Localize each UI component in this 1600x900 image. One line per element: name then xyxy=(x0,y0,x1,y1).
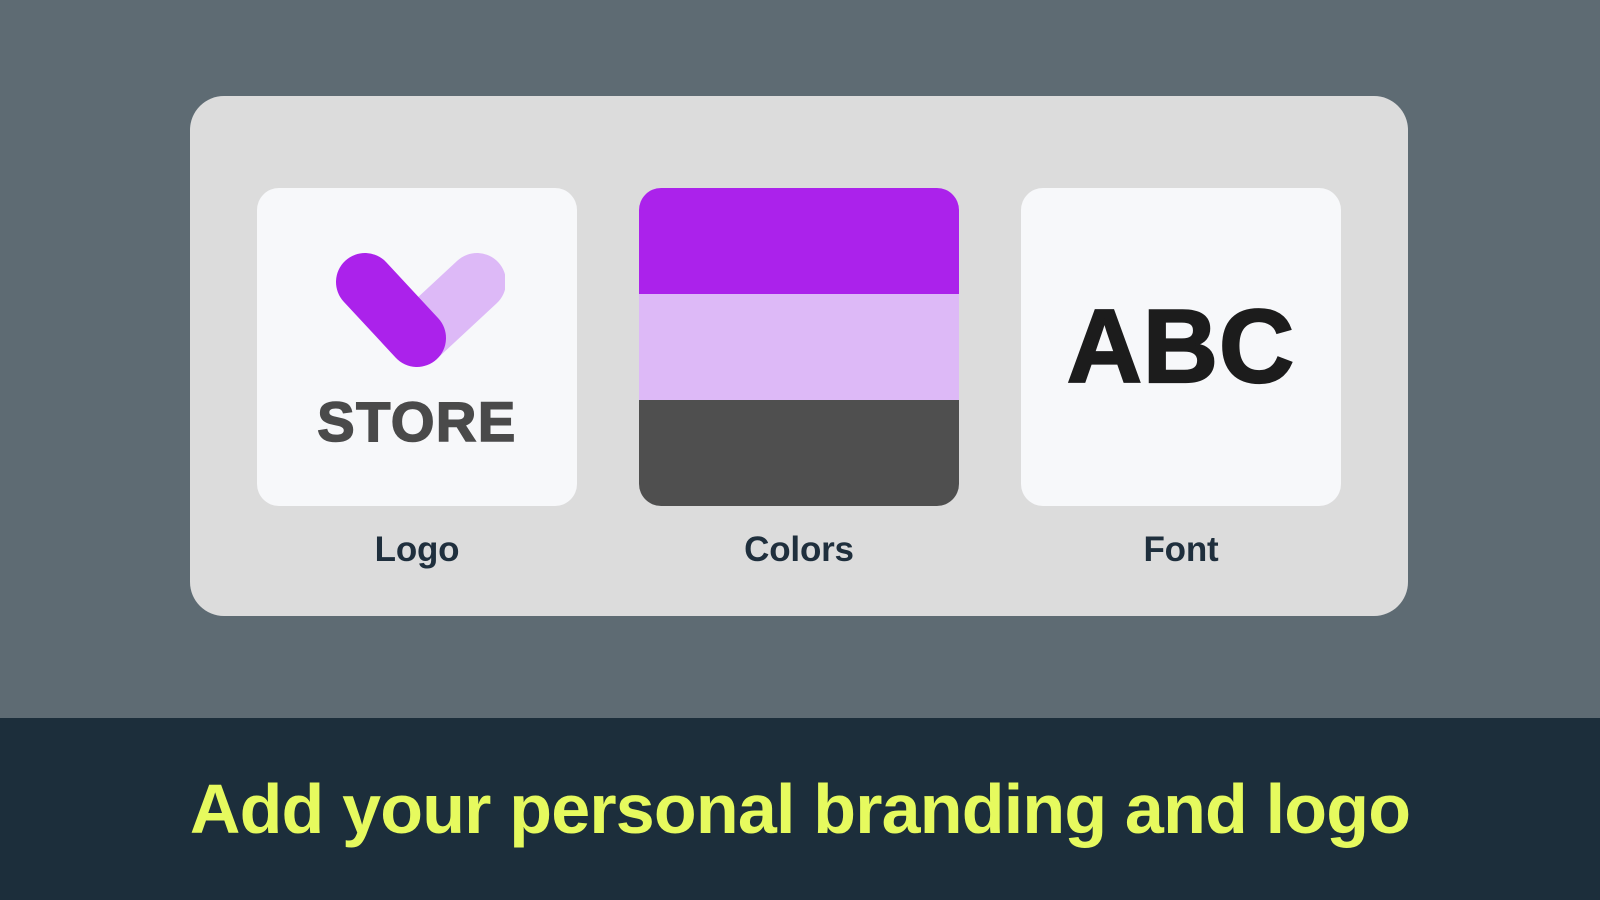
heart-check-logo-icon xyxy=(329,252,505,368)
colors-preview-card[interactable] xyxy=(639,188,959,506)
screenshot-stage: STORE Logo Colors ABC Font xyxy=(0,0,1600,900)
branding-item-colors[interactable]: Colors xyxy=(639,188,959,567)
color-swatch-light-lavender[interactable] xyxy=(639,294,959,400)
font-card-label: Font xyxy=(1144,532,1219,567)
typography-sample-icon: ABC xyxy=(1067,295,1295,399)
branding-items-row: STORE Logo Colors ABC Font xyxy=(190,96,1408,616)
logo-wordmark: STORE xyxy=(317,394,516,450)
branding-item-font[interactable]: ABC Font xyxy=(1021,188,1341,567)
branding-item-logo[interactable]: STORE Logo xyxy=(257,188,577,567)
logo-preview-card[interactable]: STORE xyxy=(257,188,577,506)
caption-banner: Add your personal branding and logo xyxy=(0,718,1600,900)
color-swatch-dark-gray[interactable] xyxy=(639,400,959,506)
colors-card-label: Colors xyxy=(744,532,854,567)
font-preview-card[interactable]: ABC xyxy=(1021,188,1341,506)
color-swatch-primary-purple[interactable] xyxy=(639,188,959,294)
logo-card-label: Logo xyxy=(375,532,460,567)
caption-text: Add your personal branding and logo xyxy=(190,774,1410,844)
branding-panel: STORE Logo Colors ABC Font xyxy=(190,96,1408,616)
